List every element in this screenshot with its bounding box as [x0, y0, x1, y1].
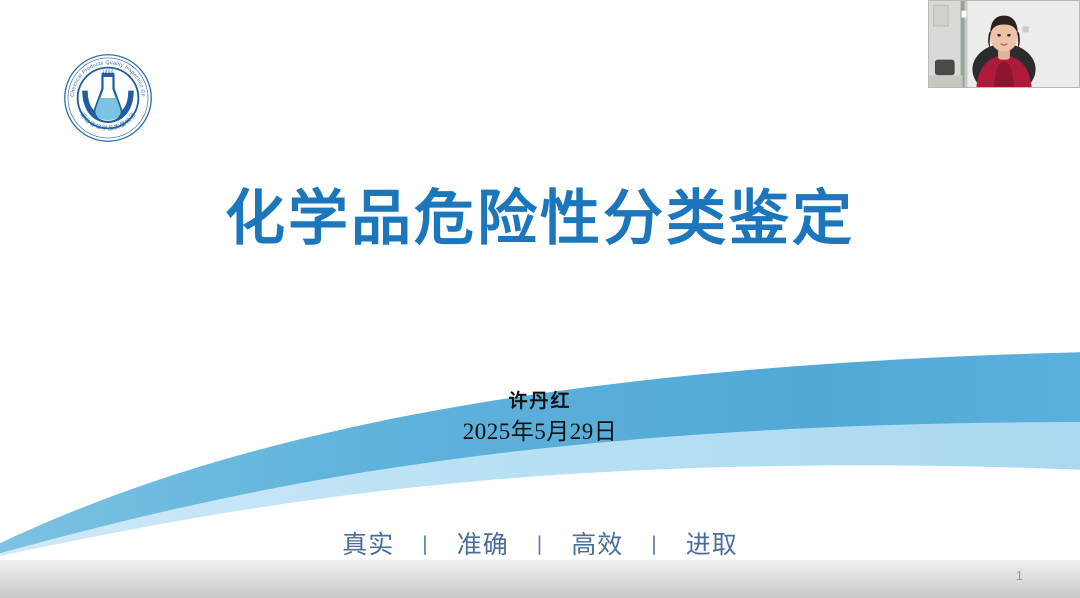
slide-tagline: 真实 丨 准确 丨 高效 丨 进取 [0, 525, 1080, 561]
presenter-block: 许丹红 2025年5月29日 [0, 390, 1080, 447]
slide-title: 化学品危险性分类鉴定 [0, 186, 1080, 252]
slide-bottom-bar: 1 [0, 560, 1080, 598]
tagline-separator-1: 丨 [405, 530, 445, 560]
page-number: 1 [1016, 568, 1023, 583]
presentation-slide: Chemical Products Quality Inspection Co … [0, 0, 1080, 598]
tagline-word-1: 真实 [338, 532, 398, 559]
presenter-name: 许丹红 [0, 390, 1080, 414]
tagline-separator-2: 丨 [520, 530, 560, 560]
tagline-word-2: 准确 [453, 532, 513, 559]
presentation-date: 2025年5月29日 [0, 416, 1080, 447]
tagline-separator-3: 丨 [635, 530, 675, 560]
tagline-word-4: 进取 [682, 532, 742, 559]
tagline-word-3: 高效 [567, 532, 627, 559]
company-logo: Chemical Products Quality Inspection Co … [62, 52, 154, 144]
webcam-video-feed [929, 1, 1079, 87]
presenter-webcam-overlay[interactable] [928, 0, 1080, 88]
